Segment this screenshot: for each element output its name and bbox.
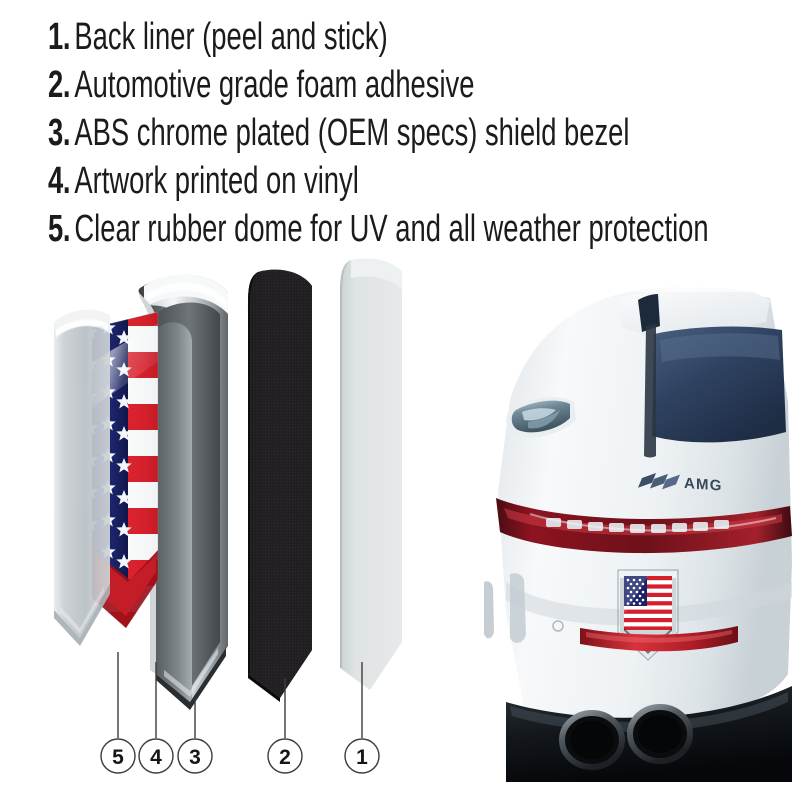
callout-leader-lines [118,652,362,738]
feature-list: 1.Back liner (peel and stick) 2.Automoti… [48,18,793,258]
callout-label-3: 3 [189,746,201,769]
callout-marker-3: 3 [178,739,212,773]
callout-marker-4: 4 [139,739,173,773]
feature-item-3: 3.ABS chrome plated (OEM specs) shield b… [48,114,584,152]
callout-marker-5: 5 [101,739,135,773]
feature-label-4: Artwork printed on vinyl [70,160,359,202]
callout-label-4: 4 [150,746,162,769]
feature-number-3: 3. [48,112,70,154]
callout-label-2: 2 [279,746,291,769]
feature-label-2: Automotive grade foam adhesive [70,64,474,106]
callout-marker-2: 2 [268,739,302,773]
callout-label-1: 1 [356,746,368,769]
callout-label-5: 5 [112,746,124,769]
clear-dome-layer [54,310,110,646]
car-application-photo: AMG [470,282,800,782]
feature-number-5: 5. [48,208,70,250]
rear-window [652,327,786,443]
amg-badge-text: AMG [684,475,723,495]
feature-number-4: 4. [48,160,70,202]
callout-marker-1: 1 [345,739,379,773]
feature-item-5: 5.Clear rubber dome for UV and all weath… [48,210,584,248]
feature-label-1: Back liner (peel and stick) [70,16,388,58]
callout-group: 5 4 3 2 1 [0,600,440,800]
feature-number-2: 2. [48,64,70,106]
feature-number-1: 1. [48,16,70,58]
feature-item-4: 4.Artwork printed on vinyl [48,162,584,200]
feature-item-1: 1.Back liner (peel and stick) [48,18,584,56]
feature-item-2: 2.Automotive grade foam adhesive [48,66,584,104]
feature-label-5: Clear rubber dome for UV and all weather… [70,208,708,250]
feature-label-3: ABS chrome plated (OEM specs) shield bez… [70,112,629,154]
